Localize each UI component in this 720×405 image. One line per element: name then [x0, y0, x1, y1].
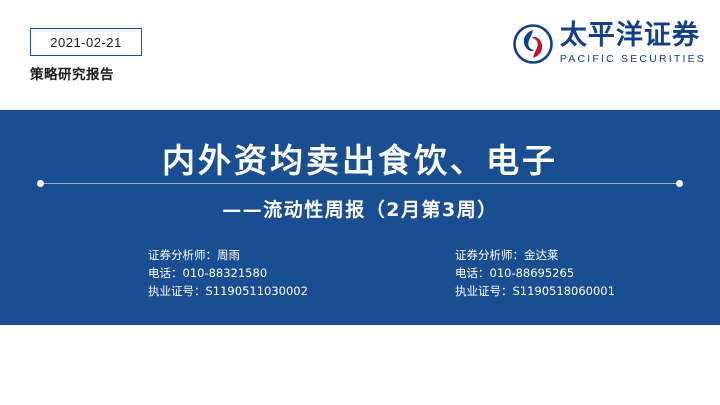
report-date: 2021-02-21: [50, 35, 122, 50]
analyst-phone: 电话：010-88695265: [455, 264, 615, 282]
report-type-label: 策略研究报告: [30, 63, 114, 83]
analyst-license: 执业证号：S1190518060001: [455, 282, 615, 300]
page-title: 内外资均卖出食饮、电子: [0, 134, 720, 182]
banner-divider-dot-left: [37, 180, 44, 187]
logo-company-name-en: PACIFIC SECURITIES: [560, 53, 706, 65]
company-logo: 太平洋证券 PACIFIC SECURITIES: [513, 22, 706, 65]
page-subtitle: ——流动性周报（2月第3周）: [0, 195, 720, 222]
analyst-info-left: 证券分析师：周雨 电话：010-88321580 执业证号：S119051103…: [148, 246, 308, 300]
analyst-name: 证券分析师：金达莱: [455, 246, 615, 264]
logo-text: 太平洋证券 PACIFIC SECURITIES: [560, 22, 706, 65]
banner-divider: [40, 183, 680, 184]
report-date-box: 2021-02-21: [30, 28, 142, 56]
analyst-name: 证券分析师：周雨: [148, 246, 308, 264]
logo-company-name-cn: 太平洋证券: [560, 22, 706, 50]
analyst-license: 执业证号：S1190511030002: [148, 282, 308, 300]
banner-divider-dot-right: [676, 180, 683, 187]
analyst-phone: 电话：010-88321580: [148, 264, 308, 282]
analyst-info-right: 证券分析师：金达莱 电话：010-88695265 执业证号：S11905180…: [455, 246, 615, 300]
title-banner: 内外资均卖出食饮、电子 ——流动性周报（2月第3周） 证券分析师：周雨 电话：0…: [0, 110, 720, 325]
pacific-logo-icon: [513, 24, 553, 64]
